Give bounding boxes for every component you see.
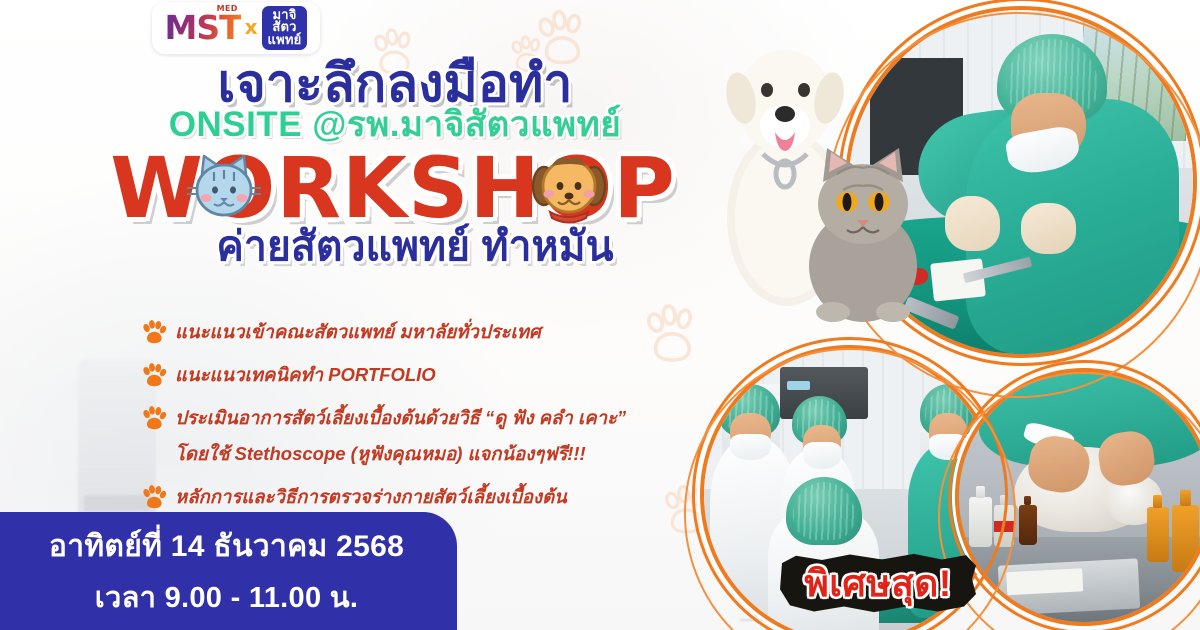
brand-logo[interactable]: MST MED x มาจิ สัตว แพทย์	[152, 2, 320, 54]
paw-bullet-icon	[142, 406, 166, 430]
list-item: หลักการและวิธีการตรวจร่างกายสัตว์เลี้ยงเ…	[142, 483, 702, 511]
list-item-label: ประเมินอาการสัตว์เลี้ยงเบื้องต้นด้วยวิธี…	[175, 404, 626, 432]
event-time: เวลา 9.00 - 11.00 น.	[69, 574, 358, 620]
list-item-label: หลักการและวิธีการตรวจร่างกายสัตว์เลี้ยงเ…	[175, 483, 567, 511]
logo-med-text: MED	[217, 4, 238, 13]
list-item: แนะแนวเทคนิคทำ PORTFOLIO	[142, 361, 702, 389]
list-item-sublabel: โดยใช้ Stethoscope (หูฟังคุณหมอ) แจกน้อง…	[175, 440, 702, 468]
paw-bullet-icon	[142, 320, 166, 344]
schedule-banner: อาทิตย์ที่ 14 ธันวาคม 2568 เวลา 9.00 - 1…	[0, 512, 457, 630]
promo-poster: MST MED x มาจิ สัตว แพทย์ เจาะลึกลงมือทำ…	[0, 0, 1200, 630]
logo-mst-med: MST MED	[165, 13, 241, 43]
special-badge-label: พิเศษสุด!	[804, 554, 951, 613]
headline-block: เจาะลึกลงมือทำ ONSITE @รพ.มาจิสัตวแพทย์ …	[0, 58, 760, 279]
paw-bullet-icon	[142, 485, 166, 509]
logo-maji-line3: แพทย์	[268, 34, 302, 46]
event-date: อาทิตย์ที่ 14 ธันวาคม 2568	[23, 523, 404, 570]
logo-maji-box: มาจิ สัตว แพทย์	[262, 6, 308, 50]
feature-list: แนะแนวเข้าคณะสัตวแพทย์ มหาลัยทั่วประเทศ …	[142, 318, 702, 526]
logo-mst-text: MST	[165, 13, 241, 43]
list-item-label: แนะแนวเข้าคณะสัตวแพทย์ มหาลัยทั่วประเทศ	[175, 318, 541, 346]
status-badge: พิเศษสุด!	[778, 552, 978, 614]
paw-bullet-icon	[142, 363, 166, 387]
list-item: แนะแนวเข้าคณะสัตวแพทย์ มหาลัยทั่วประเทศ	[142, 318, 702, 346]
list-item: ประเมินอาการสัตว์เลี้ยงเบื้องต้นด้วยวิธี…	[142, 404, 702, 432]
headline-main-title: เจาะลึกลงมือทำ	[0, 58, 760, 111]
logo-x-separator: x	[245, 15, 258, 39]
list-item-label: แนะแนวเทคนิคทำ PORTFOLIO	[175, 361, 436, 389]
headline-subtitle: ค่ายสัตวแพทย์ ทำหมัน	[0, 214, 760, 279]
photo-cat-examination	[955, 368, 1200, 626]
